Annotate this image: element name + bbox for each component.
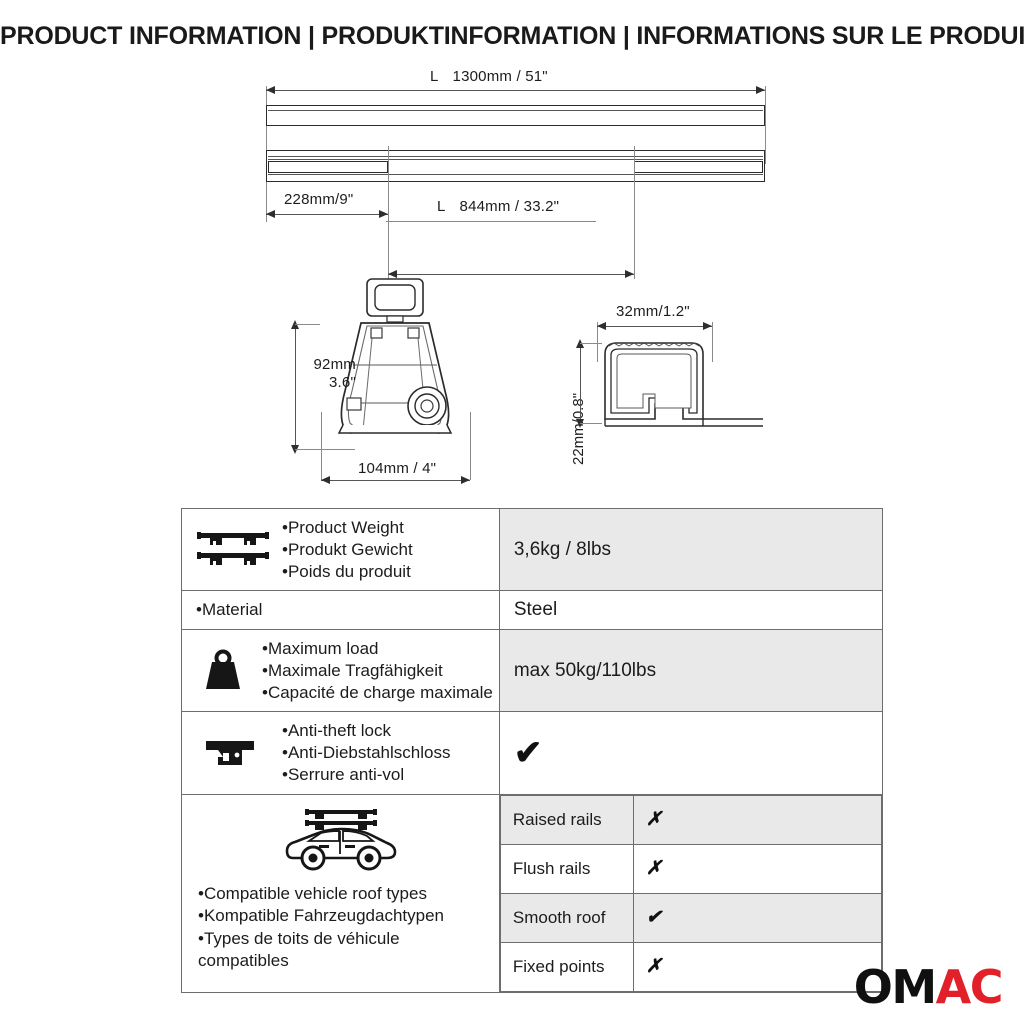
ext-line-tower-bottom (295, 449, 355, 450)
row-value-maxload: max 50kg/110lbs (499, 630, 882, 712)
lock-icon (190, 733, 276, 773)
tower-lock-neck (387, 316, 403, 322)
table-row: •Anti-theft lock •Anti-Diebstahlschloss … (182, 712, 883, 794)
crossbar-second-groove-top2 (268, 159, 763, 160)
slot-segment-left (268, 161, 388, 173)
crossbars-icon (190, 528, 276, 572)
label-line: •Serrure anti-vol (282, 764, 450, 786)
compat-row-raised-rails: Raised rails ✗ (500, 795, 881, 844)
arrow-left-foot-offset (266, 210, 275, 218)
dim-line-tower-width (321, 480, 470, 481)
dim-tower-height: 92mm 3.6" (300, 356, 356, 392)
page-title: PRODUCT INFORMATION | PRODUKTINFORMATION… (0, 22, 1024, 51)
label-line: •Maximale Tragfähigkeit (262, 660, 493, 682)
row-label-cell-material: •Material (182, 591, 500, 630)
table-row: •Maximum load •Maximale Tragfähigkeit •C… (182, 630, 883, 712)
technical-drawing: L1300mm / 51" 228mm/9" L844mm / 33.2" (0, 60, 1024, 505)
product-information-page: PRODUCT INFORMATION | PRODUKTINFORMATION… (0, 0, 1024, 1024)
label-line: •Anti-Diebstahlschloss (282, 742, 450, 764)
specification-table: •Product Weight •Produkt Gewicht •Poids … (181, 508, 883, 993)
dim-line-tower-height (295, 324, 296, 449)
tower-latch (347, 398, 361, 410)
dim-bar-length-value: 1300mm / 51" (453, 68, 548, 85)
compat-value-raised-rails: ✗ (633, 795, 881, 844)
tower-lock-cap-inner (375, 285, 415, 310)
label-line: •Material (196, 599, 262, 621)
arrow-right-span (625, 270, 634, 278)
dim-span-underline (386, 221, 596, 222)
cross-icon: ✗ (646, 956, 662, 977)
compat-value-fixed-points: ✗ (633, 942, 881, 991)
logo-text-dark: OM (854, 960, 936, 1014)
row-labels-maxload: •Maximum load •Maximale Tragfähigkeit •C… (262, 638, 493, 703)
dim-span-value: 844mm / 33.2" (460, 198, 560, 215)
label-line: •Poids du produit (282, 561, 413, 583)
check-icon: ✔ (514, 734, 543, 772)
bar-cross-section (595, 340, 770, 455)
dim-tower-height-mm: 92mm (314, 356, 356, 373)
tower-fastener-left (371, 328, 382, 338)
ext-line-tower-w-left (321, 412, 322, 480)
ext-line-tower-top (295, 324, 320, 325)
dim-line-profile-height (580, 343, 581, 423)
row-value-material: Steel (499, 591, 882, 630)
compat-name-smooth-roof: Smooth roof (500, 893, 633, 942)
cross-icon: ✗ (646, 858, 662, 879)
compatibility-table: Raised rails ✗ Flush rails ✗ (500, 795, 882, 992)
compat-row-smooth-roof: Smooth roof ✔ (500, 893, 881, 942)
table-row: •Product Weight •Produkt Gewicht •Poids … (182, 509, 883, 591)
dim-profile-height-value: 22mm/0.8" (570, 393, 587, 465)
weight-icon (190, 649, 256, 693)
compat-name-flush-rails: Flush rails (500, 844, 633, 893)
label-line: •Types de toits de véhicule compatibles (198, 928, 487, 972)
dim-span: L844mm / 33.2" (437, 198, 559, 215)
arrow-left-profile-width (597, 322, 606, 330)
row-label-cell-lock: •Anti-theft lock •Anti-Diebstahlschloss … (182, 712, 500, 794)
arrow-right-tower-width (461, 476, 470, 484)
compatibility-matrix-cell: Raised rails ✗ Flush rails ✗ (499, 794, 882, 992)
slot-segment-right (634, 161, 763, 173)
dim-tower-width: 104mm / 4" (358, 460, 436, 477)
label-line: •Maximum load (262, 638, 493, 660)
dim-bar-length-symbol: L (430, 68, 439, 85)
compat-row-flush-rails: Flush rails ✗ (500, 844, 881, 893)
dim-bar-length: L1300mm / 51" (430, 68, 548, 85)
lock-icon-glyph (202, 733, 264, 773)
row-labels-compatibility: •Compatible vehicle roof types •Kompatib… (190, 879, 493, 981)
dim-line-bar-length (266, 90, 765, 91)
compat-value-smooth-roof: ✔ (633, 893, 881, 942)
label-line: •Anti-theft lock (282, 720, 450, 742)
crossbar-second-groove-top (268, 156, 763, 157)
dim-tower-height-in: 3.6" (329, 374, 356, 391)
dim-profile-width: 32mm/1.2" (616, 303, 690, 320)
row-labels-material: •Material (196, 599, 262, 621)
row-labels-weight: •Product Weight •Produkt Gewicht •Poids … (282, 517, 413, 582)
compat-row-fixed-points: Fixed points ✗ (500, 942, 881, 991)
check-icon: ✔ (646, 907, 662, 928)
dim-profile-height: 22mm/0.8" (570, 393, 587, 465)
ext-line-tower-w-right (470, 412, 471, 480)
crossbar-second-groove-bottom (268, 174, 763, 175)
table-row: •Compatible vehicle roof types •Kompatib… (182, 794, 883, 992)
tower-fastener-right (408, 328, 419, 338)
crossbar-top-view (266, 105, 765, 126)
compat-name-fixed-points: Fixed points (500, 942, 633, 991)
label-line: •Product Weight (282, 517, 413, 539)
dim-foot-offset-value: 228mm/9" (284, 191, 353, 208)
arrow-right-profile-width (703, 322, 712, 330)
crossbar-top-groove (268, 110, 763, 111)
arrow-right-bar-length (756, 86, 765, 94)
compat-value-flush-rails: ✗ (633, 844, 881, 893)
label-line: •Compatible vehicle roof types (198, 883, 487, 905)
row-label-cell-compatibility: •Compatible vehicle roof types •Kompatib… (182, 794, 500, 992)
cross-icon: ✗ (646, 809, 662, 830)
car-with-rack-icon-glyph (279, 804, 404, 874)
table-row: •Material Steel (182, 591, 883, 630)
row-labels-lock: •Anti-theft lock •Anti-Diebstahlschloss … (282, 720, 450, 785)
label-line: •Capacité de charge maximale (262, 682, 493, 704)
label-line: •Kompatible Fahrzeugdachtypen (198, 905, 487, 927)
weight-icon-glyph (200, 649, 246, 693)
omac-logo: OMAC (854, 964, 1002, 1010)
dim-line-profile-width (597, 326, 712, 327)
row-label-cell-weight: •Product Weight •Produkt Gewicht •Poids … (182, 509, 500, 591)
car-with-rack-icon (279, 804, 404, 879)
tower-base-plate (339, 425, 451, 433)
dim-span-symbol: L (437, 198, 446, 215)
dim-profile-width-value: 32mm/1.2" (616, 303, 690, 320)
dim-tower-width-value: 104mm / 4" (358, 460, 436, 477)
dim-foot-offset: 228mm/9" (284, 191, 353, 208)
compat-name-raised-rails: Raised rails (500, 795, 633, 844)
ext-line-228-right (388, 146, 389, 222)
logo-text-accent: AC (936, 960, 1002, 1014)
ext-line-span-right (634, 146, 635, 279)
label-line: •Produkt Gewicht (282, 539, 413, 561)
row-value-weight: 3,6kg / 8lbs (499, 509, 882, 591)
arrow-left-bar-length (266, 86, 275, 94)
ext-line-right-top (765, 86, 766, 164)
dim-line-foot-offset (266, 214, 388, 215)
arrow-left-tower-width (321, 476, 330, 484)
tower-lock-cylinder-core (421, 400, 433, 412)
arrow-right-foot-offset (379, 210, 388, 218)
row-label-cell-maxload: •Maximum load •Maximale Tragfähigkeit •C… (182, 630, 500, 712)
row-value-lock: ✔ (499, 712, 882, 794)
crossbars-icon-glyph (195, 528, 271, 572)
